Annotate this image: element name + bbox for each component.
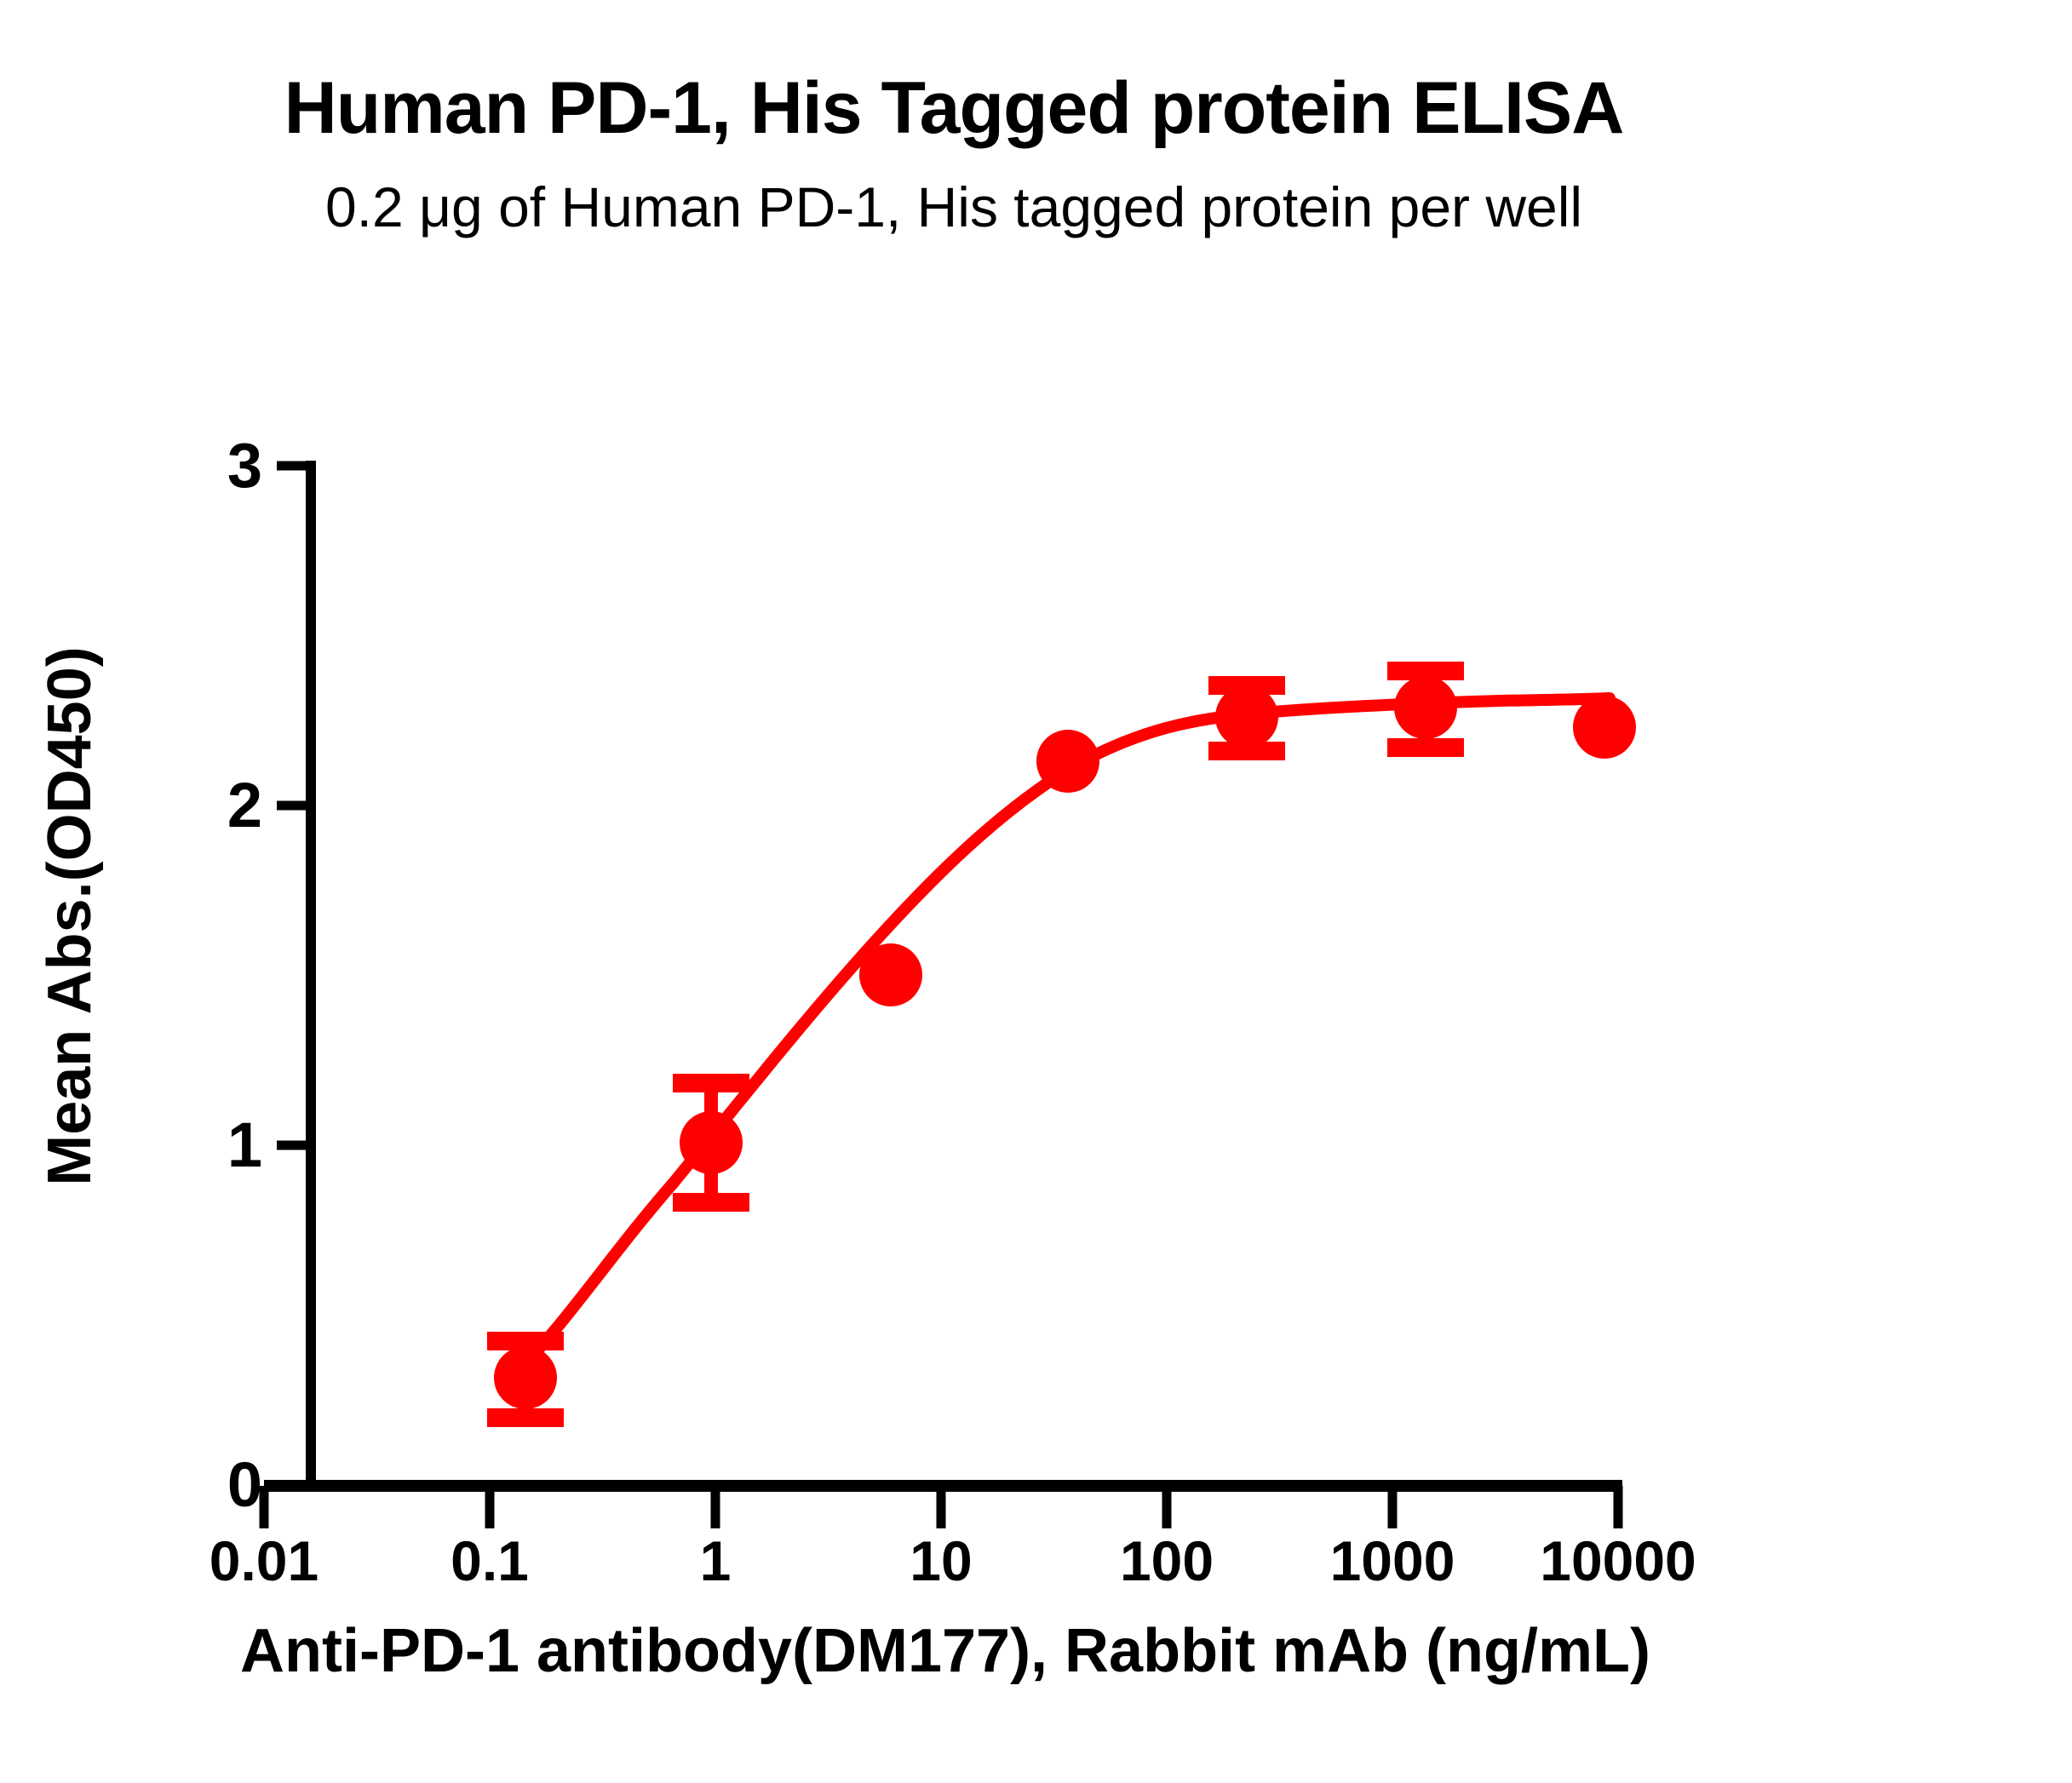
data-point-5 xyxy=(1215,685,1278,748)
chart-figure: Human PD-1, His Tagged protein ELISA 0.2… xyxy=(0,0,2072,1783)
data-point-1 xyxy=(494,1346,557,1409)
data-point-group-4 xyxy=(1036,730,1099,793)
data-point-6 xyxy=(1394,676,1457,739)
data-point-3 xyxy=(859,943,922,1006)
data-point-4 xyxy=(1036,730,1099,793)
data-point-group-1 xyxy=(487,1341,564,1418)
data-point-group-5 xyxy=(1208,685,1285,751)
data-point-group-7 xyxy=(1573,696,1636,759)
plot-area xyxy=(0,0,2072,1783)
data-point-7 xyxy=(1573,696,1636,759)
data-point-2 xyxy=(680,1111,743,1174)
fit-curve xyxy=(518,698,1610,1371)
data-point-group-6 xyxy=(1387,671,1464,748)
data-point-group-3 xyxy=(859,943,922,1006)
